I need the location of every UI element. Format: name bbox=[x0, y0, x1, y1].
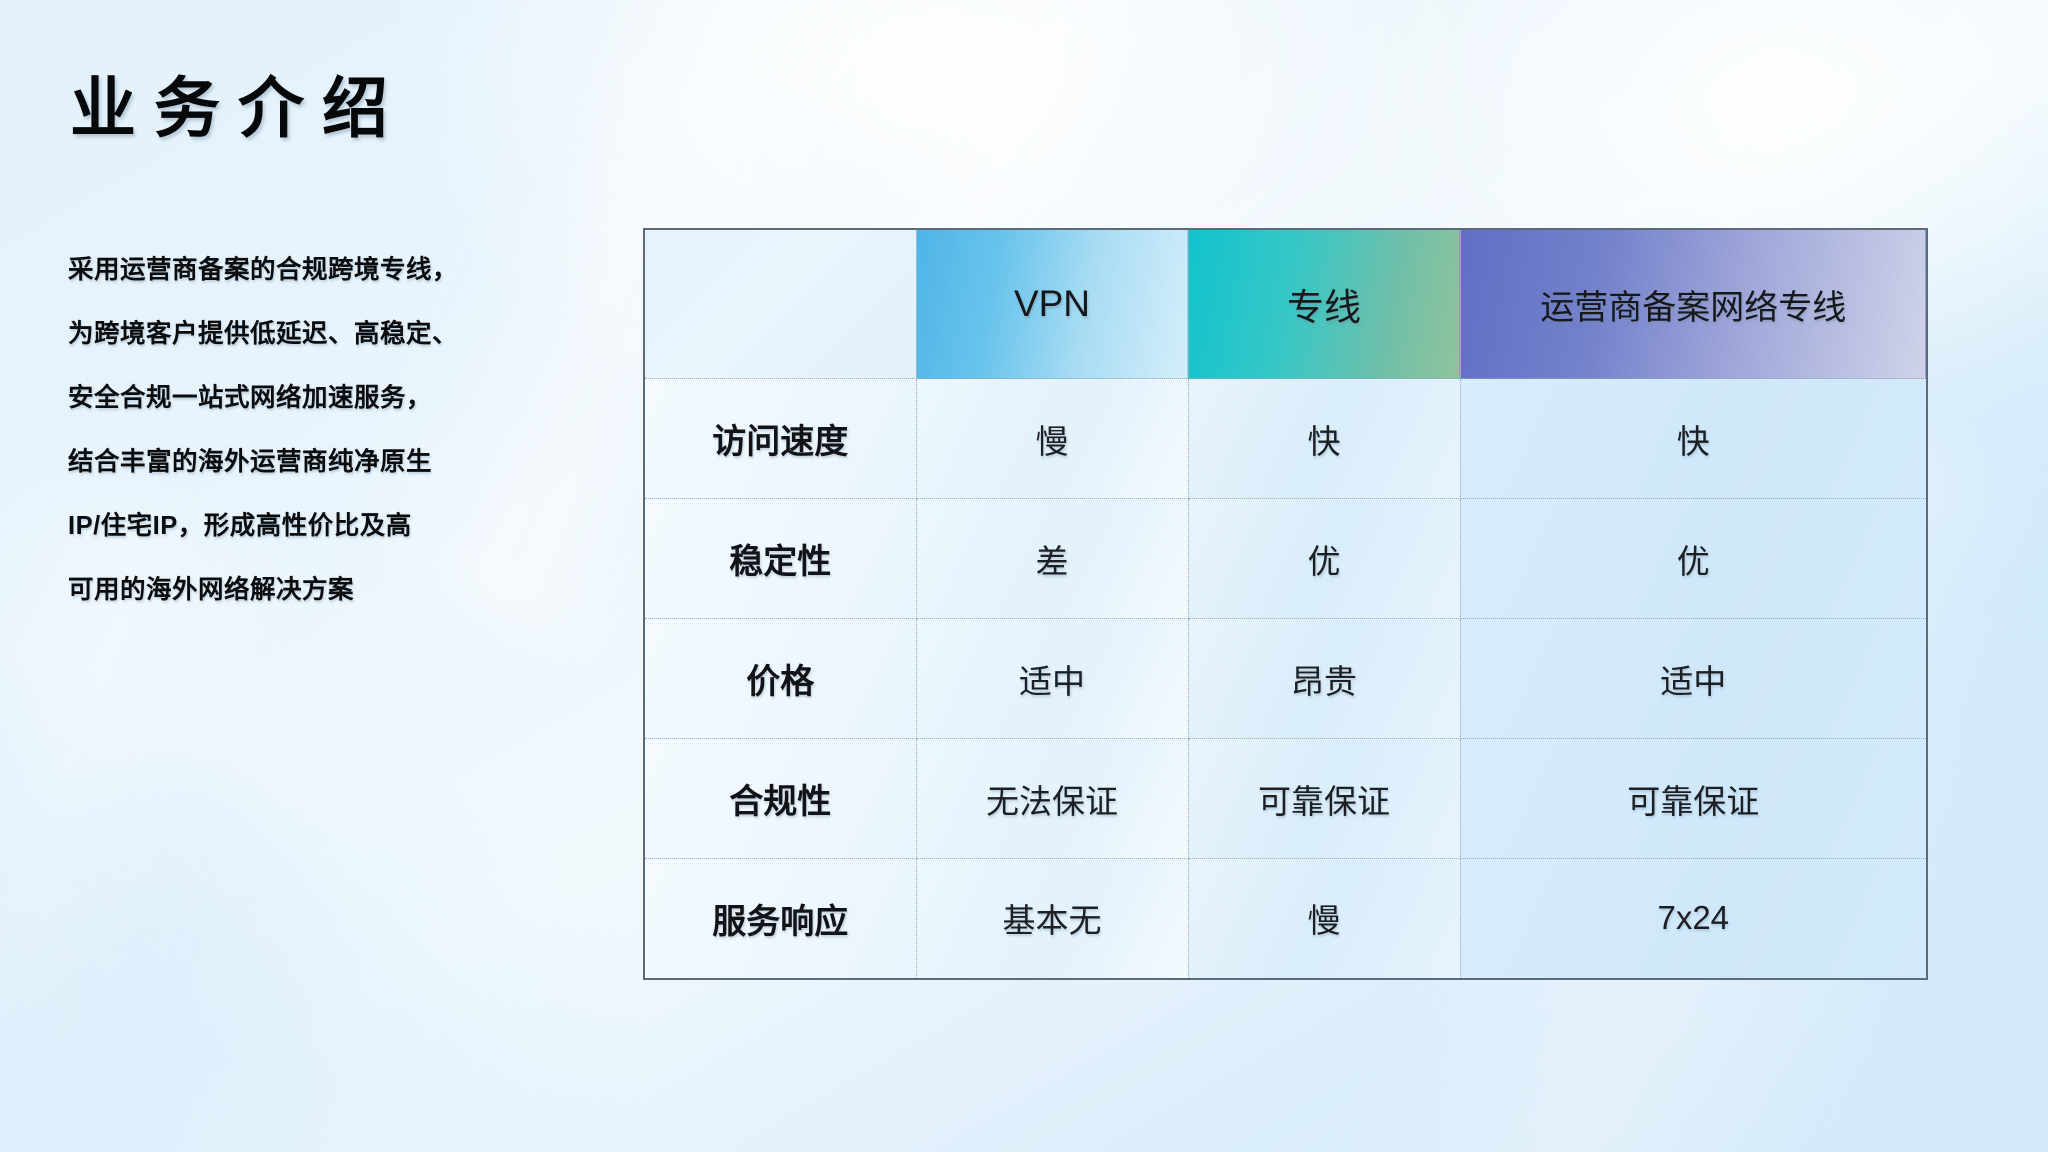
slide-canvas: 业务介绍 采用运营商备案的合规跨境专线， 为跨境客户提供低延迟、高稳定、 安全合… bbox=[0, 0, 2048, 1152]
cell-dedicated-line: 可靠保证 bbox=[1188, 739, 1460, 859]
table-row: 价格 适中 昂贵 适中 bbox=[644, 619, 1927, 739]
row-label: 服务响应 bbox=[644, 859, 916, 979]
table-row: 访问速度 慢 快 快 bbox=[644, 379, 1927, 499]
row-label: 访问速度 bbox=[644, 379, 916, 499]
column-header-attribute bbox=[644, 229, 916, 379]
column-header-vpn: VPN bbox=[916, 229, 1188, 379]
row-label: 价格 bbox=[644, 619, 916, 739]
intro-line: 可用的海外网络解决方案 bbox=[68, 558, 628, 622]
intro-line: 安全合规一站式网络加速服务， bbox=[68, 366, 628, 430]
intro-line: 结合丰富的海外运营商纯净原生 bbox=[68, 430, 628, 494]
cell-operator-line: 可靠保证 bbox=[1460, 739, 1927, 859]
table-header-row: VPN 专线 运营商备案网络专线 bbox=[644, 229, 1927, 379]
comparison-table: VPN 专线 运营商备案网络专线 访问速度 慢 快 快 稳定性 差 优 bbox=[643, 228, 1928, 980]
table-row: 合规性 无法保证 可靠保证 可靠保证 bbox=[644, 739, 1927, 859]
cell-operator-line: 快 bbox=[1460, 379, 1927, 499]
page-title: 业务介绍 bbox=[70, 55, 406, 151]
row-label: 稳定性 bbox=[644, 499, 916, 619]
cell-operator-line: 优 bbox=[1460, 499, 1927, 619]
table-body: 访问速度 慢 快 快 稳定性 差 优 优 价格 适中 昂贵 适中 合规性 无法保… bbox=[644, 379, 1927, 979]
cell-dedicated-line: 昂贵 bbox=[1188, 619, 1460, 739]
table-row: 服务响应 基本无 慢 7x24 bbox=[644, 859, 1927, 979]
column-header-operator-line-label: 运营商备案网络专线 bbox=[1540, 289, 1846, 327]
column-header-operator-line: 运营商备案网络专线 bbox=[1460, 229, 1927, 379]
intro-line: 采用运营商备案的合规跨境专线， bbox=[68, 238, 628, 302]
intro-line: IP/住宅IP，形成高性价比及高 bbox=[68, 494, 628, 558]
cell-vpn: 基本无 bbox=[916, 859, 1188, 979]
cell-vpn: 差 bbox=[916, 499, 1188, 619]
cell-operator-line: 7x24 bbox=[1460, 859, 1927, 979]
intro-line: 为跨境客户提供低延迟、高稳定、 bbox=[68, 302, 628, 366]
cell-operator-line: 适中 bbox=[1460, 619, 1927, 739]
background-glow-bottom-left bbox=[0, 712, 680, 1152]
cell-dedicated-line: 优 bbox=[1188, 499, 1460, 619]
column-header-vpn-label: VPN bbox=[1014, 283, 1090, 324]
intro-paragraph: 采用运营商备案的合规跨境专线， 为跨境客户提供低延迟、高稳定、 安全合规一站式网… bbox=[68, 238, 628, 622]
column-header-dedicated-line-label: 专线 bbox=[1287, 287, 1361, 328]
cell-vpn: 无法保证 bbox=[916, 739, 1188, 859]
cell-vpn: 适中 bbox=[916, 619, 1188, 739]
cell-dedicated-line: 慢 bbox=[1188, 859, 1460, 979]
cell-dedicated-line: 快 bbox=[1188, 379, 1460, 499]
column-header-dedicated-line: 专线 bbox=[1188, 229, 1460, 379]
cell-vpn: 慢 bbox=[916, 379, 1188, 499]
row-label: 合规性 bbox=[644, 739, 916, 859]
table-header: VPN 专线 运营商备案网络专线 bbox=[644, 229, 1927, 379]
table-row: 稳定性 差 优 优 bbox=[644, 499, 1927, 619]
